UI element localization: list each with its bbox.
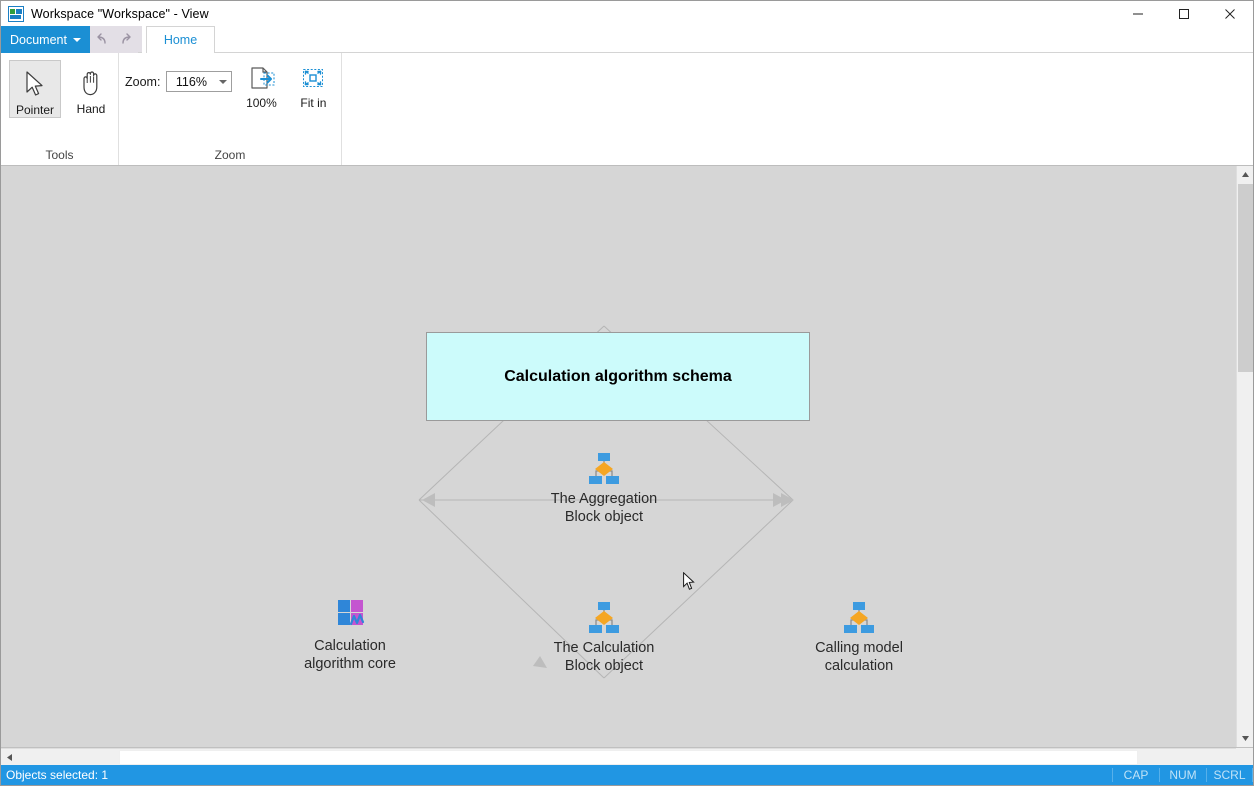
zoom-combobox[interactable]: 116% bbox=[166, 71, 232, 92]
block-object-icon bbox=[584, 600, 624, 634]
document-menu-button[interactable]: Document bbox=[1, 26, 90, 53]
title-bar: Workspace "Workspace" - View bbox=[1, 1, 1253, 26]
zoom-fit-in-label: Fit in bbox=[300, 96, 326, 110]
algorithm-core-icon bbox=[332, 598, 368, 632]
scroll-left-icon[interactable] bbox=[1, 749, 18, 766]
diagram-canvas[interactable]: Calculation algorithm schema The Aggrega… bbox=[1, 166, 1238, 748]
node-calculation-core-label: Calculation algorithm core bbox=[304, 637, 396, 673]
fit-in-icon bbox=[298, 62, 328, 96]
vertical-scrollbar-thumb[interactable] bbox=[1238, 184, 1253, 372]
status-indicator-num: NUM bbox=[1159, 768, 1206, 782]
status-indicators: CAP NUM SCRL bbox=[1112, 768, 1253, 782]
status-indicator-scrl: SCRL bbox=[1206, 768, 1253, 782]
minimize-icon[interactable] bbox=[1115, 1, 1161, 26]
close-icon[interactable] bbox=[1207, 1, 1253, 26]
pointer-icon bbox=[16, 65, 54, 103]
ribbon-group-zoom: Zoom: 116% bbox=[119, 53, 342, 165]
tool-hand-label: Hand bbox=[77, 102, 106, 116]
ribbon-group-zoom-label: Zoom bbox=[119, 147, 341, 165]
ribbon-group-tools-label: Tools bbox=[1, 147, 118, 165]
undo-icon[interactable] bbox=[92, 30, 112, 50]
hand-icon bbox=[72, 64, 110, 102]
zoom-fit-in-button[interactable]: Fit in bbox=[290, 62, 336, 110]
status-indicator-cap: CAP bbox=[1112, 768, 1159, 782]
window-title: Workspace "Workspace" - View bbox=[31, 7, 209, 21]
zoom-actual-size-label: 100% bbox=[246, 96, 277, 110]
zoom-field-label: Zoom: bbox=[125, 75, 160, 89]
application-window: Workspace "Workspace" - View Document bbox=[0, 0, 1254, 786]
node-calling-model[interactable]: Calling model calculation bbox=[769, 600, 949, 675]
block-object-icon bbox=[584, 451, 624, 485]
block-object-icon bbox=[839, 600, 879, 634]
diagram-title-box[interactable]: Calculation algorithm schema bbox=[426, 332, 810, 421]
scrollbar-corner bbox=[1236, 748, 1253, 765]
redo-icon[interactable] bbox=[116, 30, 136, 50]
diagram-canvas-area[interactable]: Calculation algorithm schema The Aggrega… bbox=[1, 166, 1253, 748]
status-bar: Objects selected: 1 CAP NUM SCRL bbox=[1, 765, 1253, 785]
tabstrip-gap bbox=[138, 26, 142, 53]
horizontal-scrollbar-thumb[interactable] bbox=[119, 750, 1138, 765]
vertical-scrollbar[interactable] bbox=[1236, 166, 1253, 747]
actual-size-icon bbox=[246, 62, 276, 96]
node-calculation-core[interactable]: Calculation algorithm core bbox=[260, 598, 440, 673]
document-menu-label: Document bbox=[10, 33, 67, 47]
diagram-title-text: Calculation algorithm schema bbox=[504, 368, 732, 386]
tab-home[interactable]: Home bbox=[146, 26, 215, 53]
ribbon-filler bbox=[342, 53, 1253, 165]
scroll-up-icon[interactable] bbox=[1237, 166, 1253, 183]
maximize-icon[interactable] bbox=[1161, 1, 1207, 26]
ribbon-group-tools: Pointer Hand Tools bbox=[1, 53, 119, 165]
ribbon-tabstrip: Document Home bbox=[1, 26, 1253, 53]
node-calculation-block[interactable]: The Calculation Block object bbox=[514, 600, 694, 675]
tool-pointer-label: Pointer bbox=[16, 103, 54, 117]
chevron-down-icon bbox=[73, 38, 81, 42]
workspace-icon bbox=[8, 6, 24, 22]
node-aggregation-block[interactable]: The Aggregation Block object bbox=[514, 451, 694, 526]
tool-hand-button[interactable]: Hand bbox=[65, 60, 117, 116]
horizontal-scrollbar[interactable] bbox=[1, 748, 1253, 765]
tool-pointer-button[interactable]: Pointer bbox=[9, 60, 61, 118]
scroll-down-icon[interactable] bbox=[1237, 730, 1253, 747]
quick-access-toolbar bbox=[90, 26, 138, 53]
zoom-value: 116% bbox=[167, 75, 215, 89]
node-calling-model-label: Calling model calculation bbox=[815, 639, 903, 675]
ribbon: Pointer Hand Tools Zoom: bbox=[1, 53, 1253, 166]
node-calculation-block-label: The Calculation Block object bbox=[554, 639, 655, 675]
window-controls bbox=[1115, 1, 1253, 26]
node-aggregation-block-label: The Aggregation Block object bbox=[551, 490, 657, 526]
tabstrip-filler bbox=[215, 26, 1253, 53]
arrow-cursor bbox=[683, 572, 695, 591]
chevron-down-icon[interactable] bbox=[215, 80, 231, 84]
zoom-actual-size-button[interactable]: 100% bbox=[238, 62, 284, 110]
status-message: Objects selected: 1 bbox=[1, 768, 108, 782]
